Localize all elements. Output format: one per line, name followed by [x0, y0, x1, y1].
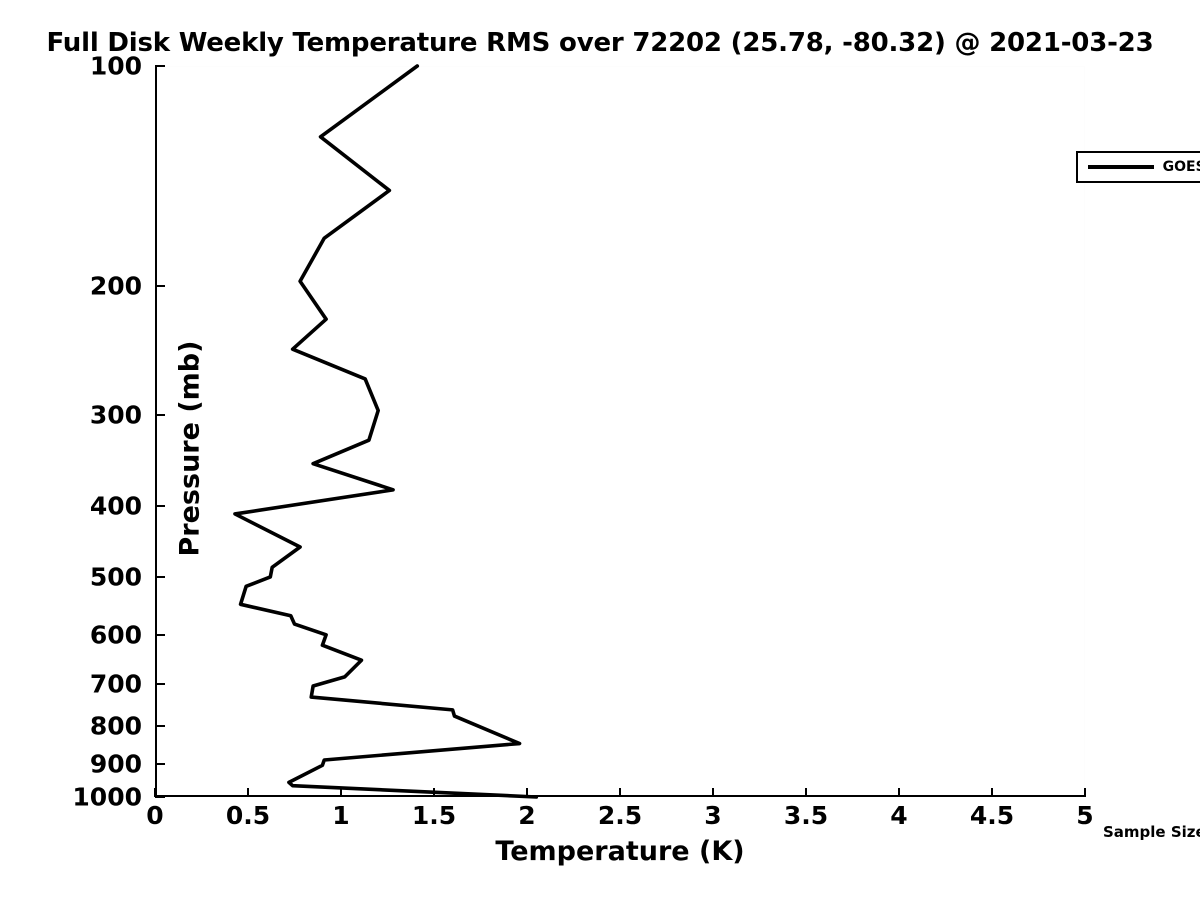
y-tick-label-500: 500: [90, 562, 142, 591]
y-tick-label-400: 400: [90, 492, 142, 521]
legend-line-swatch: [1088, 165, 1154, 169]
page-title: Full Disk Weekly Temperature RMS over 72…: [0, 28, 1200, 58]
x-tick-label-0: 0: [146, 801, 163, 830]
x-tick-label-1: 1: [332, 801, 349, 830]
data-line-goes-16: [235, 66, 536, 797]
y-tick-label-300: 300: [90, 400, 142, 429]
x-tick-label-2: 2: [518, 801, 535, 830]
x-tick-label-4: 4: [890, 801, 907, 830]
y-tick-label-1000: 1000: [72, 783, 142, 812]
figure-canvas: Full Disk Weekly Temperature RMS over 72…: [0, 0, 1200, 900]
data-series-goes-16: [155, 66, 1085, 797]
y-tick-label-100: 100: [90, 52, 142, 81]
x-tick-label-1.5: 1.5: [412, 801, 456, 830]
y-axis-label: Pressure (mb): [175, 149, 206, 749]
x-tick-label-4.5: 4.5: [970, 801, 1014, 830]
y-tick-label-700: 700: [90, 669, 142, 698]
legend-label-goes-16: GOES-16: [1163, 159, 1200, 175]
y-tick-label-900: 900: [90, 749, 142, 778]
x-tick-label-2.5: 2.5: [598, 801, 642, 830]
x-tick-label-5: 5: [1076, 801, 1093, 830]
y-tick-label-200: 200: [90, 272, 142, 301]
plot-area: 00.511.522.533.544.55 100200300400500600…: [155, 66, 1085, 797]
y-tick-label-800: 800: [90, 712, 142, 741]
x-axis-label: Temperature (K): [155, 836, 1085, 867]
sample-size-annotation: Sample Size = 11: [1103, 823, 1200, 841]
x-tick-label-3.5: 3.5: [784, 801, 828, 830]
x-tick-label-0.5: 0.5: [226, 801, 270, 830]
y-tick-label-600: 600: [90, 620, 142, 649]
x-tick-label-3: 3: [704, 801, 721, 830]
legend: GOES-16: [1076, 151, 1200, 183]
